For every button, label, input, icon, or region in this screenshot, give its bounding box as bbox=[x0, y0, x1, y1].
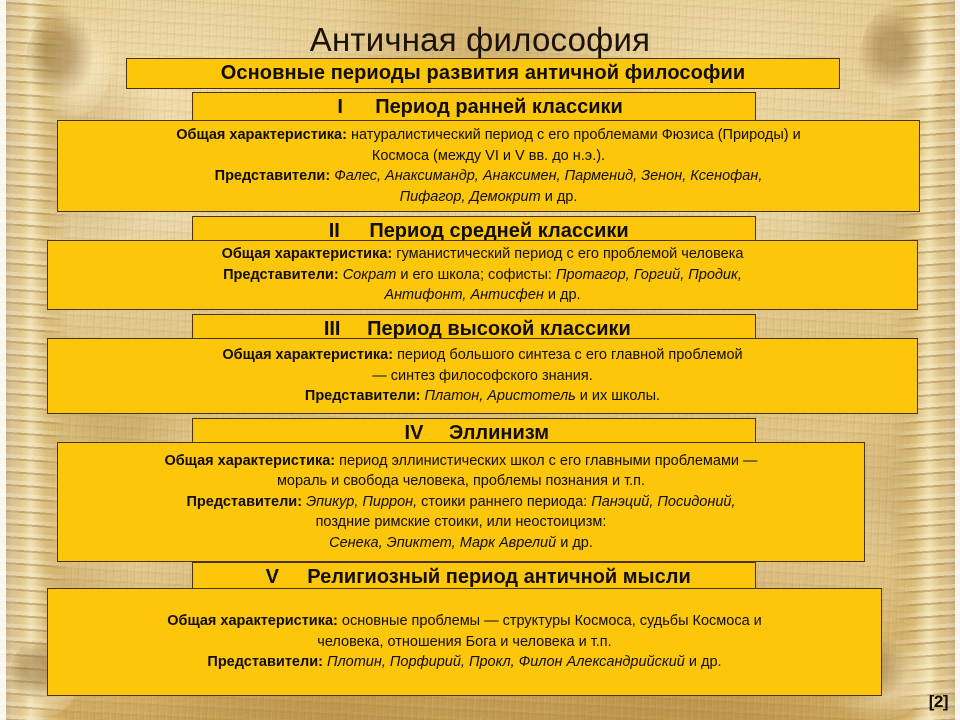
label-representatives-2: Представители: bbox=[223, 267, 339, 283]
section-1-representatives-text-2: Пифагор, Демокрит bbox=[400, 189, 541, 205]
section-4-representatives-name-c: Панэций, Посидоний, bbox=[591, 494, 735, 510]
section-header-1: I Период ранней классики bbox=[192, 92, 756, 122]
label-representatives-4: Представители: bbox=[186, 494, 302, 510]
section-4-representatives-text-3: Сенека, Эпиктет, Марк Аврелий bbox=[329, 535, 556, 551]
section-5-characteristic-text-1: основные проблемы — структуры Космоса, с… bbox=[342, 613, 762, 629]
label-representatives-5: Представители: bbox=[207, 654, 323, 670]
section-2-representatives-line-2: Антифонт, Антисфен и др. bbox=[384, 285, 580, 306]
label-general-characteristic-2: Общая характеристика: bbox=[222, 246, 393, 262]
section-1-representatives-line-1: Представители: Фалес, Анаксимандр, Анакс… bbox=[215, 166, 763, 187]
section-body-3: Общая характеристика: период большого си… bbox=[47, 338, 918, 414]
section-2-representatives-name-a: Сократ bbox=[343, 267, 397, 283]
section-body-4: Общая характеристика: период эллинистиче… bbox=[57, 442, 865, 562]
section-3-characteristic-line-1: Общая характеристика: период большого си… bbox=[222, 345, 742, 366]
section-3-representatives-line-1: Представители: Платон, Аристотель и их ш… bbox=[305, 386, 660, 407]
section-4-representatives-line-2: поздние римские стоики, или неостоицизм: bbox=[316, 512, 607, 533]
section-5-characteristic-line-1: Общая характеристика: основные проблемы … bbox=[167, 611, 762, 632]
section-1-characteristic-line-2: Космоса (между VI и V вв. до н.э.). bbox=[372, 146, 605, 167]
label-general-characteristic-5: Общая характеристика: bbox=[167, 613, 338, 629]
section-5-representatives-text-1: Плотин, Порфирий, Прокл, Филон Александр… bbox=[327, 654, 685, 670]
section-4-representatives-name-a: Эпикур, Пиррон, bbox=[306, 494, 417, 510]
section-5-representatives-tail: и др. bbox=[685, 654, 722, 670]
section-title-5: Религиозный период античной мысли bbox=[307, 566, 690, 589]
section-2-representatives-conn: и его школа; софисты: bbox=[396, 267, 556, 283]
section-1-representatives-tail: и др. bbox=[541, 189, 578, 205]
main-banner-label: Основные периоды развития античной филос… bbox=[221, 62, 746, 85]
section-2-characteristic-text-1: гуманистический период с его проблемой ч… bbox=[396, 246, 743, 262]
section-2-representatives-tail: и др. bbox=[544, 287, 581, 303]
section-4-representatives-tail: и др. bbox=[556, 535, 593, 551]
label-general-characteristic-4: Общая характеристика: bbox=[164, 453, 335, 469]
slide-canvas: Античная философия Основные периоды разв… bbox=[0, 0, 960, 720]
section-3-representatives-tail: и их школы. bbox=[576, 388, 660, 404]
section-4-characteristic-line-1: Общая характеристика: период эллинистиче… bbox=[164, 451, 757, 472]
section-2-characteristic-line-1: Общая характеристика: гуманистический пе… bbox=[222, 244, 744, 265]
section-4-characteristic-text-2: мораль и свобода человека, проблемы позн… bbox=[277, 473, 645, 489]
section-1-characteristic-text-1: натуралистический период с его проблемам… bbox=[351, 127, 801, 143]
section-body-1: Общая характеристика: натуралистический … bbox=[57, 120, 920, 212]
label-general-characteristic-1: Общая характеристика: bbox=[176, 127, 347, 143]
section-2-representatives-text-2: Антифонт, Антисфен bbox=[384, 287, 543, 303]
section-3-representatives-text-1: Платон, Аристотель bbox=[424, 388, 575, 404]
section-1-characteristic-line-1: Общая характеристика: натуралистический … bbox=[176, 125, 801, 146]
section-body-5: Общая характеристика: основные проблемы … bbox=[47, 588, 882, 696]
label-representatives-1: Представители: bbox=[215, 168, 331, 184]
section-3-characteristic-text-1: период большого синтеза с его главной пр… bbox=[397, 347, 743, 363]
label-representatives-3: Представители: bbox=[305, 388, 421, 404]
section-5-characteristic-line-2: человека, отношения Бога и человека и т.… bbox=[317, 632, 611, 653]
section-2-representatives-name-c: Протагор, Горгий, Продик, bbox=[556, 267, 742, 283]
section-1-representatives-line-2: Пифагор, Демокрит и др. bbox=[400, 187, 578, 208]
section-numeral-1: I bbox=[325, 96, 355, 119]
label-general-characteristic-3: Общая характеристика: bbox=[222, 347, 393, 363]
page-title: Античная философия bbox=[0, 20, 960, 60]
section-4-representatives-line-1: Представители: Эпикур, Пиррон, стоики ра… bbox=[186, 492, 735, 513]
section-4-characteristic-text-1: период эллинистических школ с его главны… bbox=[339, 453, 757, 469]
section-1-characteristic-text-2: Космоса (между VI и V вв. до н.э.). bbox=[372, 148, 605, 164]
section-title-1: Период ранней классики bbox=[375, 96, 623, 119]
section-4-representatives-line-3: Сенека, Эпиктет, Марк Аврелий и др. bbox=[329, 533, 593, 554]
section-1-representatives-text-1: Фалес, Анаксимандр, Анаксимен, Парменид,… bbox=[334, 168, 762, 184]
section-4-representatives-conn: стоики раннего периода: bbox=[417, 494, 591, 510]
section-3-characteristic-line-2: — синтез философского знания. bbox=[372, 366, 593, 387]
section-4-representatives-text-2: поздние римские стоики, или неостоицизм: bbox=[316, 514, 607, 530]
main-banner: Основные периоды развития античной филос… bbox=[126, 58, 840, 89]
section-2-representatives-line-1: Представители: Сократ и его школа; софис… bbox=[223, 265, 742, 286]
section-5-representatives-line-1: Представители: Плотин, Порфирий, Прокл, … bbox=[207, 652, 721, 673]
section-body-2: Общая характеристика: гуманистический пе… bbox=[47, 240, 918, 310]
section-3-characteristic-text-2: — синтез философского знания. bbox=[372, 368, 593, 384]
section-4-characteristic-line-2: мораль и свобода человека, проблемы позн… bbox=[277, 471, 645, 492]
section-numeral-5: V bbox=[257, 566, 287, 589]
section-5-characteristic-text-2: человека, отношения Бога и человека и т.… bbox=[317, 634, 611, 650]
page-reference-marker: [2] bbox=[929, 692, 948, 712]
